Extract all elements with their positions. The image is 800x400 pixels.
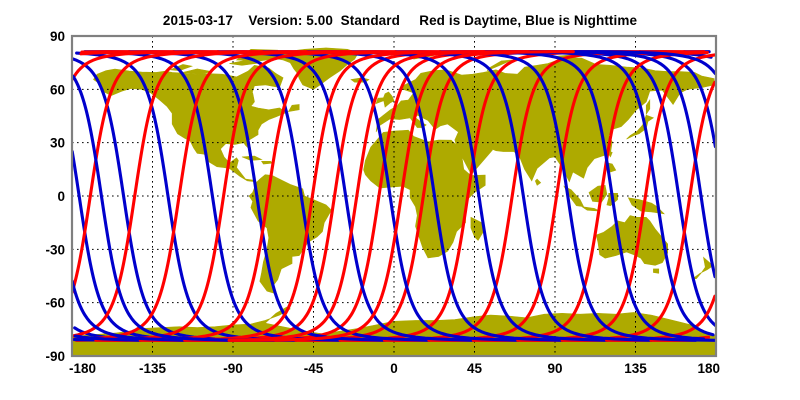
map-plot: 9060300-30-60-90 -180-135-90-45045901351… xyxy=(0,0,800,400)
x-axis-ticklabels: -180-135-90-4504590135180 xyxy=(69,361,720,376)
x-ticklabel-90: 90 xyxy=(547,361,562,376)
y-ticklabel--30: -30 xyxy=(45,242,65,257)
y-ticklabel-90: 90 xyxy=(50,29,65,44)
y-ticklabel--90: -90 xyxy=(45,349,65,364)
x-ticklabel--180: -180 xyxy=(69,361,96,376)
y-ticklabel-30: 30 xyxy=(50,136,65,151)
x-ticklabel-45: 45 xyxy=(467,361,483,376)
ground-track-figure: 2015-03-17 Version: 5.00 Standard Red is… xyxy=(0,0,800,400)
y-ticklabel-0: 0 xyxy=(57,189,65,204)
x-ticklabel-0: 0 xyxy=(390,361,398,376)
y-ticklabel--60: -60 xyxy=(45,296,65,311)
x-ticklabel-180: 180 xyxy=(697,361,720,376)
land-tasmania xyxy=(653,269,658,273)
y-axis-ticklabels: 9060300-30-60-90 xyxy=(45,29,65,364)
x-ticklabel--45: -45 xyxy=(304,361,324,376)
y-ticklabel-60: 60 xyxy=(50,82,65,97)
x-ticklabel-135: 135 xyxy=(624,361,647,376)
x-ticklabel--90: -90 xyxy=(223,361,243,376)
x-ticklabel--135: -135 xyxy=(139,361,167,376)
